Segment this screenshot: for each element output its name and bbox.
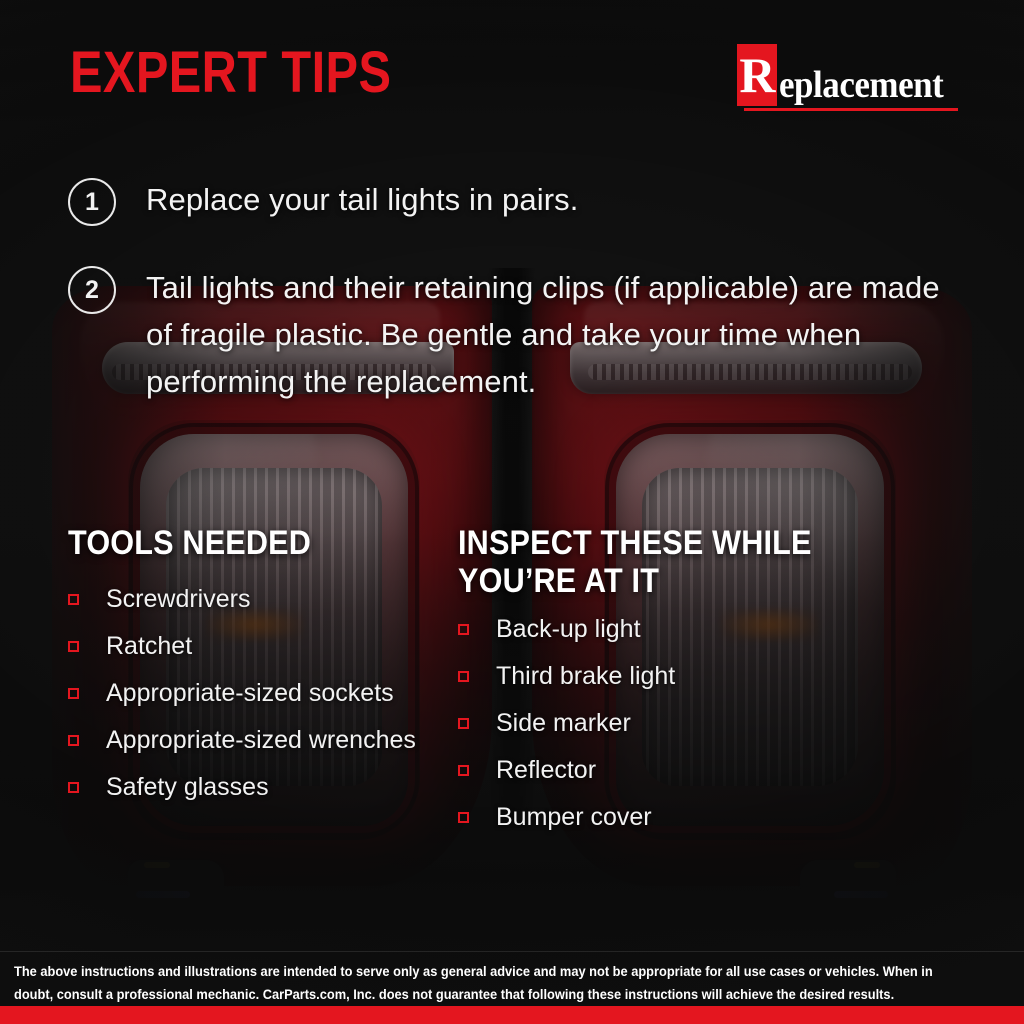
list-item-label: Reflector [496,755,596,785]
checkbox-icon[interactable] [68,594,79,605]
inspect-these-column: INSPECT THESE WHILE YOU’RE AT IT Back-up… [458,524,888,849]
logo-underline [744,108,958,111]
tip-item: 1 Replace your tail lights in pairs. [68,176,968,226]
checkbox-icon[interactable] [68,688,79,699]
checkbox-icon[interactable] [458,624,469,635]
list-item-label: Appropriate-sized wrenches [106,725,416,755]
list-item-label: Appropriate-sized sockets [106,678,394,708]
inspect-these-heading: INSPECT THESE WHILE YOU’RE AT IT [458,524,845,600]
list-item: Safety glasses [68,772,458,802]
list-item-label: Third brake light [496,661,675,691]
list-item: Side marker [458,708,888,738]
bottom-accent-bar [0,1006,1024,1024]
tip-item: 2 Tail lights and their retaining clips … [68,264,968,405]
list-item: Bumper cover [458,802,888,832]
tip-text: Replace your tail lights in pairs. [146,176,578,223]
tip-number-badge: 1 [68,178,116,226]
list-item-label: Safety glasses [106,772,269,802]
checkbox-icon[interactable] [458,812,469,823]
tips-list: 1 Replace your tail lights in pairs. 2 T… [68,176,968,443]
tools-needed-heading: TOOLS NEEDED [68,524,419,562]
list-item-label: Ratchet [106,631,192,661]
checkbox-icon[interactable] [68,641,79,652]
logo-wordmark: eplacement [779,66,943,106]
checklist-columns: TOOLS NEEDED Screwdrivers Ratchet Approp… [68,524,968,849]
list-item: Back-up light [458,614,888,644]
logo-mark-r: R [737,44,777,106]
list-item: Reflector [458,755,888,785]
replacement-logo: R eplacement [737,44,958,106]
checkbox-icon[interactable] [458,671,469,682]
expert-tips-poster: EXPERT TIPS R eplacement 1 Replace your … [0,0,1024,1024]
tip-number-badge: 2 [68,266,116,314]
checkbox-icon[interactable] [68,735,79,746]
list-item: Appropriate-sized sockets [68,678,458,708]
list-item-label: Screwdrivers [106,584,250,614]
list-item: Screwdrivers [68,584,458,614]
checkbox-icon[interactable] [68,782,79,793]
page-title: EXPERT TIPS [70,44,391,102]
tip-text: Tail lights and their retaining clips (i… [146,264,968,405]
checkbox-icon[interactable] [458,765,469,776]
list-item-label: Bumper cover [496,802,652,832]
list-item-label: Back-up light [496,614,641,644]
list-item: Ratchet [68,631,458,661]
list-item-label: Side marker [496,708,631,738]
list-item: Third brake light [458,661,888,691]
disclaimer-text: The above instructions and illustrations… [14,960,953,1006]
inspect-these-list: Back-up light Third brake light Side mar… [458,614,888,832]
tools-needed-column: TOOLS NEEDED Screwdrivers Ratchet Approp… [68,524,458,849]
checkbox-icon[interactable] [458,718,469,729]
tools-needed-list: Screwdrivers Ratchet Appropriate-sized s… [68,584,458,802]
footer: The above instructions and illustrations… [0,944,1024,1006]
list-item: Appropriate-sized wrenches [68,725,458,755]
